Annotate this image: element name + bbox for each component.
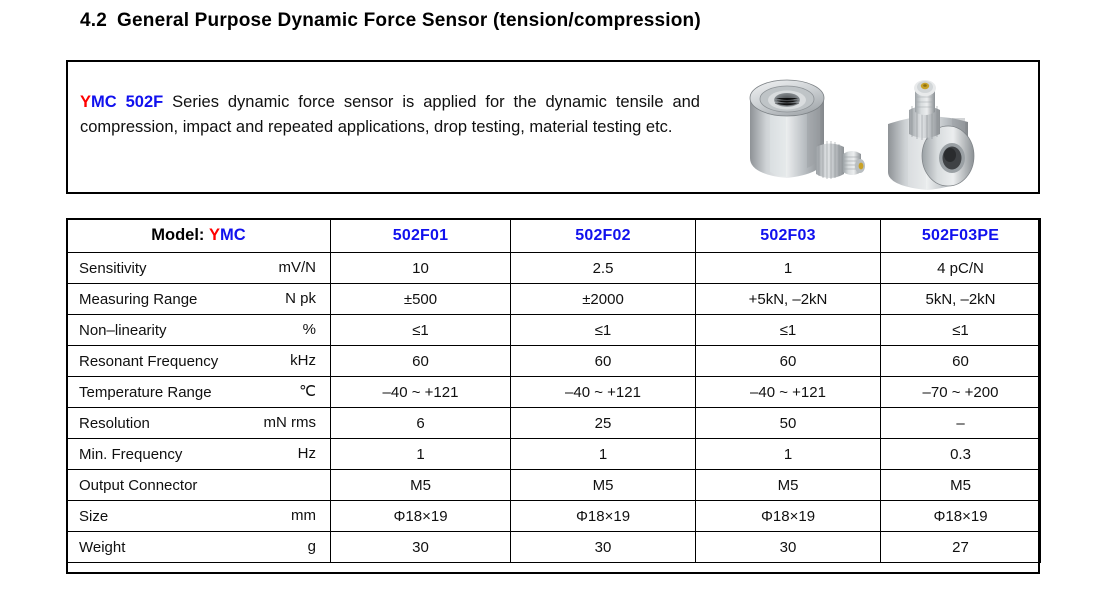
table-header-row: Model: YMC 502F01 502F02 502F03 502F03PE xyxy=(67,219,1041,253)
cell-value: –40 ~ +121 xyxy=(696,377,881,408)
table-row: ResolutionmN rms 6 25 50 – xyxy=(67,408,1041,439)
cell-value: 6 xyxy=(331,408,511,439)
cell-value: +5kN, –2kN xyxy=(696,284,881,315)
product-photo xyxy=(712,62,1012,192)
row-label-cell: ResolutionmN rms xyxy=(67,408,331,439)
param-unit: mV/N xyxy=(279,253,317,283)
param-unit: N pk xyxy=(285,284,316,314)
connector-left xyxy=(816,141,865,179)
cell-value: 25 xyxy=(511,408,696,439)
cell-value: Φ18×19 xyxy=(511,501,696,532)
cell-value: 5kN, –2kN xyxy=(881,284,1041,315)
cell-value: M5 xyxy=(881,470,1041,501)
cell-value: 50 xyxy=(696,408,881,439)
column-header-502f03pe: 502F03PE xyxy=(881,219,1041,253)
cell-value: Φ18×19 xyxy=(331,501,511,532)
cell-value: 1 xyxy=(696,253,881,284)
table-row: Resonant FrequencykHz 60 60 60 60 xyxy=(67,346,1041,377)
cell-value: ≤1 xyxy=(696,315,881,346)
cell-value: ±2000 xyxy=(511,284,696,315)
row-label-cell: Resonant FrequencykHz xyxy=(67,346,331,377)
param-name: Weight xyxy=(79,539,125,556)
table-body: SensitivitymV/N 10 2.5 1 4 pC/N Measurin… xyxy=(67,253,1041,563)
description-body: Series dynamic force sensor is applied f… xyxy=(80,93,700,136)
table-row: Weightg 30 30 30 27 xyxy=(67,532,1041,563)
model-brand-initial: Y xyxy=(209,226,220,244)
cell-value: M5 xyxy=(331,470,511,501)
table-row: Min. FrequencyHz 1 1 1 0.3 xyxy=(67,439,1041,470)
section-number: 4.2 xyxy=(80,10,107,31)
param-unit: kHz xyxy=(290,346,316,376)
column-header-502f02: 502F02 xyxy=(511,219,696,253)
cell-value: ≤1 xyxy=(511,315,696,346)
param-unit: Hz xyxy=(298,439,316,469)
row-label-cell: Sizemm xyxy=(67,501,331,532)
table-row: Non–linearity% ≤1 ≤1 ≤1 ≤1 xyxy=(67,315,1041,346)
cell-value: 30 xyxy=(331,532,511,563)
specification-table: Model: YMC 502F01 502F02 502F03 502F03PE… xyxy=(66,218,1041,563)
sensor-right xyxy=(888,80,974,190)
row-label-cell: Temperature Range℃ xyxy=(67,377,331,408)
brand-name: MC 502F xyxy=(91,93,163,111)
sensor-photo-svg xyxy=(712,62,1012,192)
cell-value: ±500 xyxy=(331,284,511,315)
model-header-cell: Model: YMC xyxy=(67,219,331,253)
param-name: Temperature Range xyxy=(79,384,212,401)
cell-value: 1 xyxy=(331,439,511,470)
param-name: Sensitivity xyxy=(79,260,147,277)
brand-initial: Y xyxy=(80,93,91,111)
row-label-cell: Weightg xyxy=(67,532,331,563)
section-title-text: General Purpose Dynamic Force Sensor (te… xyxy=(117,10,701,31)
row-label-cell: SensitivitymV/N xyxy=(67,253,331,284)
row-label-cell: Output Connector xyxy=(67,470,331,501)
param-unit: mm xyxy=(291,501,316,531)
cell-value: Φ18×19 xyxy=(881,501,1041,532)
param-unit: ℃ xyxy=(299,377,316,407)
param-name: Size xyxy=(79,508,108,525)
cell-value: –40 ~ +121 xyxy=(331,377,511,408)
column-header-502f01: 502F01 xyxy=(331,219,511,253)
table-row: Measuring RangeN pk ±500 ±2000 +5kN, –2k… xyxy=(67,284,1041,315)
table-row: Temperature Range℃ –40 ~ +121 –40 ~ +121… xyxy=(67,377,1041,408)
table-row: Output Connector M5 M5 M5 M5 xyxy=(67,470,1041,501)
cell-value: ≤1 xyxy=(331,315,511,346)
cell-value: –40 ~ +121 xyxy=(511,377,696,408)
cell-value: ≤1 xyxy=(881,315,1041,346)
page-title: 4.2General Purpose Dynamic Force Sensor … xyxy=(80,10,701,32)
param-name: Min. Frequency xyxy=(79,446,182,463)
model-label: Model: xyxy=(151,226,204,244)
cell-value: 2.5 xyxy=(511,253,696,284)
cell-value: –70 ~ +200 xyxy=(881,377,1041,408)
cell-value: 1 xyxy=(511,439,696,470)
product-description-text: YMC 502F Series dynamic force sensor is … xyxy=(80,90,700,140)
row-label-cell: Min. FrequencyHz xyxy=(67,439,331,470)
param-unit: g xyxy=(308,532,316,562)
cell-value: 30 xyxy=(696,532,881,563)
connector-right xyxy=(909,80,940,140)
row-label-cell: Measuring RangeN pk xyxy=(67,284,331,315)
param-name: Resonant Frequency xyxy=(79,353,218,370)
cell-value: 1 xyxy=(696,439,881,470)
cell-value: 27 xyxy=(881,532,1041,563)
cell-value: 60 xyxy=(696,346,881,377)
param-unit: % xyxy=(303,315,316,345)
cell-value: 4 pC/N xyxy=(881,253,1041,284)
cell-value: 60 xyxy=(511,346,696,377)
cell-value: 60 xyxy=(881,346,1041,377)
param-unit: mN rms xyxy=(264,408,317,438)
cell-value: 30 xyxy=(511,532,696,563)
cell-value: – xyxy=(881,408,1041,439)
row-label-cell: Non–linearity% xyxy=(67,315,331,346)
cell-value: Φ18×19 xyxy=(696,501,881,532)
cell-value: 0.3 xyxy=(881,439,1041,470)
cell-value: M5 xyxy=(511,470,696,501)
table-row: SensitivitymV/N 10 2.5 1 4 pC/N xyxy=(67,253,1041,284)
param-name: Measuring Range xyxy=(79,291,197,308)
cell-value: 10 xyxy=(331,253,511,284)
model-brand-name: MC xyxy=(220,226,246,244)
table-row: Sizemm Φ18×19 Φ18×19 Φ18×19 Φ18×19 xyxy=(67,501,1041,532)
param-name: Resolution xyxy=(79,415,150,432)
cell-value: 60 xyxy=(331,346,511,377)
param-name: Non–linearity xyxy=(79,322,167,339)
product-description-panel: YMC 502F Series dynamic force sensor is … xyxy=(66,60,1040,194)
sensor-left xyxy=(750,80,865,179)
cell-value: M5 xyxy=(696,470,881,501)
param-name: Output Connector xyxy=(79,477,197,494)
column-header-502f03: 502F03 xyxy=(696,219,881,253)
